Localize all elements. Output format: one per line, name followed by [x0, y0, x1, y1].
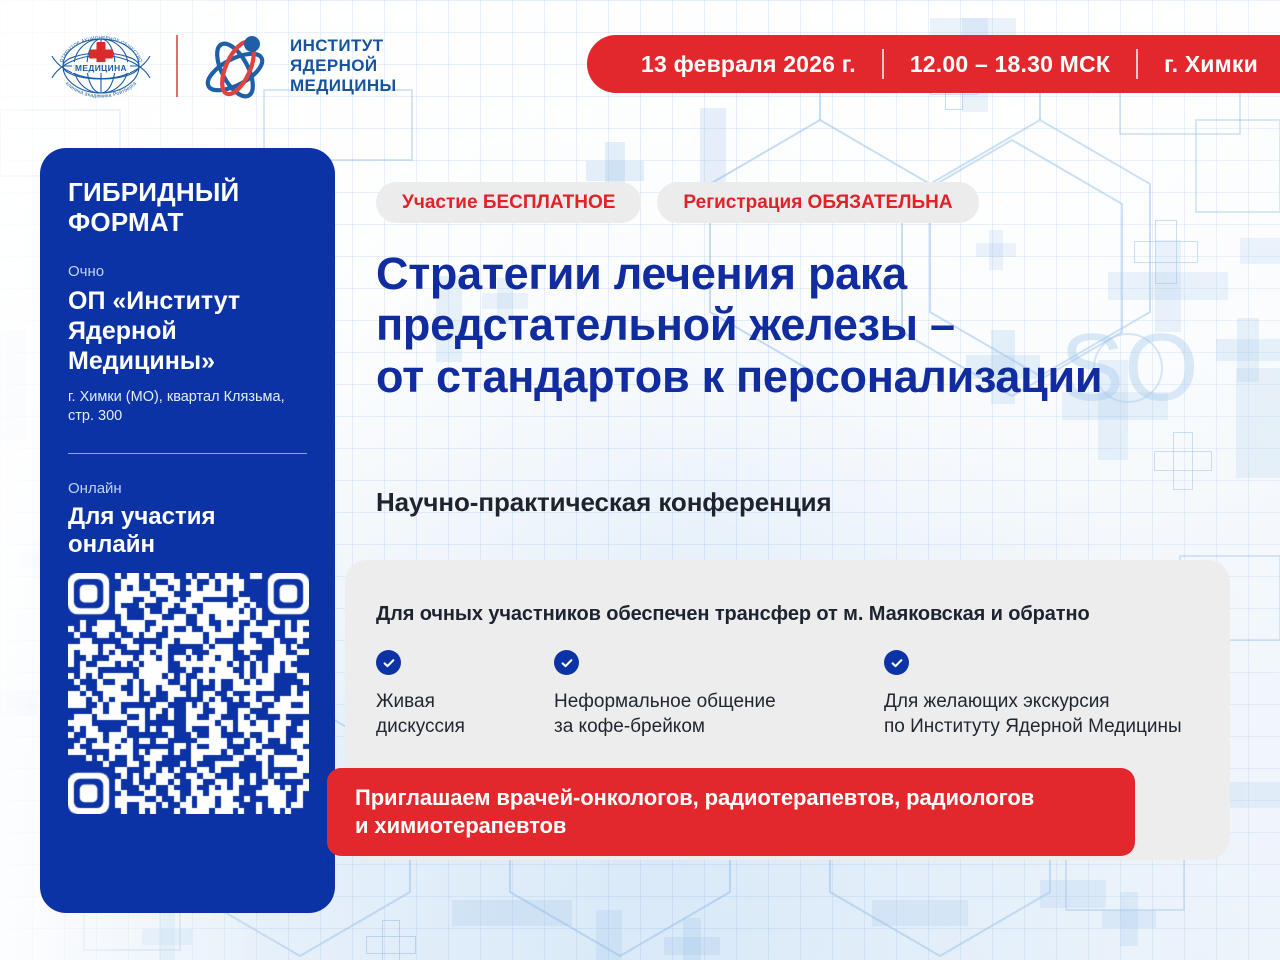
audience-cta-text: Приглашаем врачей-онкологов, радиотерапе… [355, 784, 1034, 840]
atom-icon [194, 32, 280, 100]
header-logos: МЕДИЦИНА ОТКРЫТОЕ АКЦИОНЕРНОЕ ОБЩЕСТВО к… [42, 26, 397, 106]
date-bar-divider [882, 49, 884, 79]
svg-text:МЕДИЦИНА: МЕДИЦИНА [75, 63, 127, 73]
online-kicker: Онлайн [68, 480, 307, 497]
check-icon [376, 650, 401, 675]
online-title: Для участия онлайн [68, 503, 307, 559]
event-date-bar: 13 февраля 2026 г. 12.00 – 18.30 МСК г. … [587, 35, 1280, 93]
globe-red-cross-logo: МЕДИЦИНА ОТКРЫТОЕ АКЦИОНЕРНОЕ ОБЩЕСТВО к… [42, 26, 160, 106]
offline-kicker: Очно [68, 263, 307, 280]
check-icon [554, 650, 579, 675]
sidebar-divider [68, 453, 307, 455]
badge-row: Участие БЕСПЛАТНОЕ Регистрация ОБЯЗАТЕЛЬ… [376, 182, 979, 223]
logo-divider [176, 35, 178, 97]
feature-label: Живая дискуссия [376, 689, 554, 739]
hybrid-format-panel: ГИБРИДНЫЙ ФОРМАТ Очно ОП «Институт Ядерн… [40, 148, 335, 913]
feature-item: Живая дискуссия [376, 650, 554, 739]
feature-label: Для желающих экскурсия по Институту Ядер… [884, 689, 1236, 739]
event-time: 12.00 – 18.30 МСК [910, 51, 1110, 78]
offline-venue: ОП «Институт Ядерной Медицины» [68, 286, 307, 376]
feature-item: Для желающих экскурсия по Институту Ядер… [884, 650, 1236, 739]
event-date: 13 февраля 2026 г. [641, 51, 856, 78]
qr-code-canvas[interactable] [68, 573, 309, 814]
sidebar-heading: ГИБРИДНЫЙ ФОРМАТ [68, 178, 307, 238]
feature-label: Неформальное общение за кофе-брейком [554, 689, 884, 739]
event-city: г. Химки [1164, 51, 1258, 78]
qr-code[interactable] [68, 573, 309, 814]
feature-item: Неформальное общение за кофе-брейком [554, 650, 884, 739]
features-list: Живая дискуссия Неформальное общение за … [376, 650, 1236, 739]
page-subtitle: Научно-практическая конференция [376, 487, 832, 518]
badge-free-participation: Участие БЕСПЛАТНОЕ [376, 182, 641, 223]
institute-logo-text: ИНСТИТУТ ЯДЕРНОЙ МЕДИЦИНЫ [290, 36, 397, 95]
badge-registration-required: Регистрация ОБЯЗАТЕЛЬНА [657, 182, 978, 223]
page-title: Стратегии лечения рака предстательной же… [376, 248, 1206, 402]
check-icon [884, 650, 909, 675]
institute-logo: ИНСТИТУТ ЯДЕРНОЙ МЕДИЦИНЫ [194, 32, 397, 100]
transfer-note: Для очных участников обеспечен трансфер … [376, 603, 1090, 626]
audience-cta-banner: Приглашаем врачей-онкологов, радиотерапе… [327, 768, 1135, 856]
date-bar-divider [1136, 49, 1138, 79]
conference-poster: SO [0, 0, 1280, 960]
offline-address: г. Химки (МО), квартал Клязьма, стр. 300 [68, 388, 307, 427]
